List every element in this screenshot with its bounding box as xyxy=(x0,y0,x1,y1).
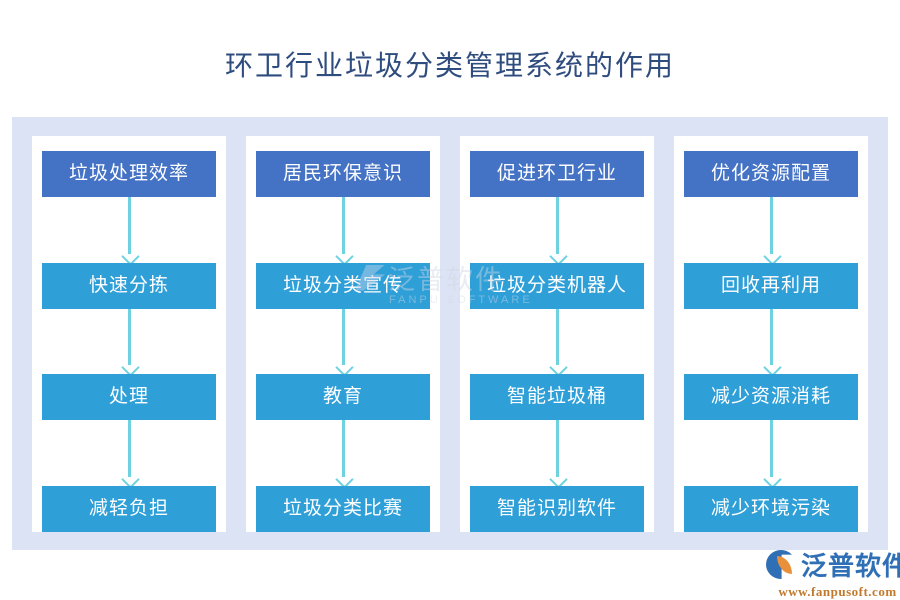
flow-head-node[interactable]: 垃圾处理效率 xyxy=(42,151,216,197)
flow-column-4: 优化资源配置 回收再利用 减少资源消耗 减少环境污染 xyxy=(674,136,868,532)
fanpu-logo-icon xyxy=(766,550,796,579)
flow-arrow xyxy=(556,197,559,263)
flow-arrow xyxy=(128,197,131,263)
arrow-shaft xyxy=(128,197,131,254)
flow-arrow xyxy=(128,420,131,486)
arrow-shaft xyxy=(556,197,559,254)
flow-column-1: 垃圾处理效率 快速分拣 处理 减轻负担 xyxy=(32,136,226,532)
flow-arrow xyxy=(770,197,773,263)
brand-logo: 泛普软件 www.fanpusoft.com xyxy=(766,546,900,600)
flow-step-node[interactable]: 减轻负担 xyxy=(42,486,216,532)
arrow-shaft xyxy=(770,420,773,477)
flow-arrow xyxy=(342,420,345,486)
flow-arrow xyxy=(342,309,345,375)
flow-step-node[interactable]: 回收再利用 xyxy=(684,263,858,309)
columns-container: 垃圾处理效率 快速分拣 处理 减轻负担 居民环保意识 xyxy=(32,136,868,532)
arrow-shaft xyxy=(770,309,773,366)
flow-arrow xyxy=(556,309,559,375)
flow-step-node[interactable]: 处理 xyxy=(42,374,216,420)
logo-brand-name: 泛普软件 xyxy=(801,546,900,583)
arrow-shaft xyxy=(128,420,131,477)
arrow-shaft xyxy=(770,197,773,254)
page-title: 环卫行业垃圾分类管理系统的作用 xyxy=(0,44,900,84)
flow-head-node[interactable]: 居民环保意识 xyxy=(256,151,430,197)
flow-arrow xyxy=(128,309,131,375)
flow-column-3: 促进环卫行业 垃圾分类机器人 智能垃圾桶 智能识别软件 xyxy=(460,136,654,532)
flow-column-2: 居民环保意识 垃圾分类宣传 教育 垃圾分类比赛 xyxy=(246,136,440,532)
arrow-shaft xyxy=(556,309,559,366)
flow-arrow xyxy=(770,309,773,375)
arrow-shaft xyxy=(342,309,345,366)
flow-step-node[interactable]: 垃圾分类比赛 xyxy=(256,486,430,532)
flow-head-node[interactable]: 促进环卫行业 xyxy=(470,151,644,197)
flow-step-node[interactable]: 减少资源消耗 xyxy=(684,374,858,420)
arrow-shaft xyxy=(128,309,131,366)
arrow-shaft xyxy=(342,420,345,477)
flow-step-node[interactable]: 垃圾分类宣传 xyxy=(256,263,430,309)
flow-step-node[interactable]: 垃圾分类机器人 xyxy=(470,263,644,309)
flow-arrow xyxy=(342,197,345,263)
flow-step-node[interactable]: 减少环境污染 xyxy=(684,486,858,532)
logo-website-url: www.fanpusoft.com xyxy=(766,584,900,600)
flow-step-node[interactable]: 快速分拣 xyxy=(42,263,216,309)
flow-step-node[interactable]: 智能垃圾桶 xyxy=(470,374,644,420)
arrow-shaft xyxy=(556,420,559,477)
diagram-frame: 垃圾处理效率 快速分拣 处理 减轻负担 居民环保意识 xyxy=(12,117,888,550)
logo-row: 泛普软件 xyxy=(766,546,900,583)
flow-arrow xyxy=(556,420,559,486)
flow-step-node[interactable]: 教育 xyxy=(256,374,430,420)
flow-step-node[interactable]: 智能识别软件 xyxy=(470,486,644,532)
flow-arrow xyxy=(770,420,773,486)
arrow-shaft xyxy=(342,197,345,254)
flow-head-node[interactable]: 优化资源配置 xyxy=(684,151,858,197)
